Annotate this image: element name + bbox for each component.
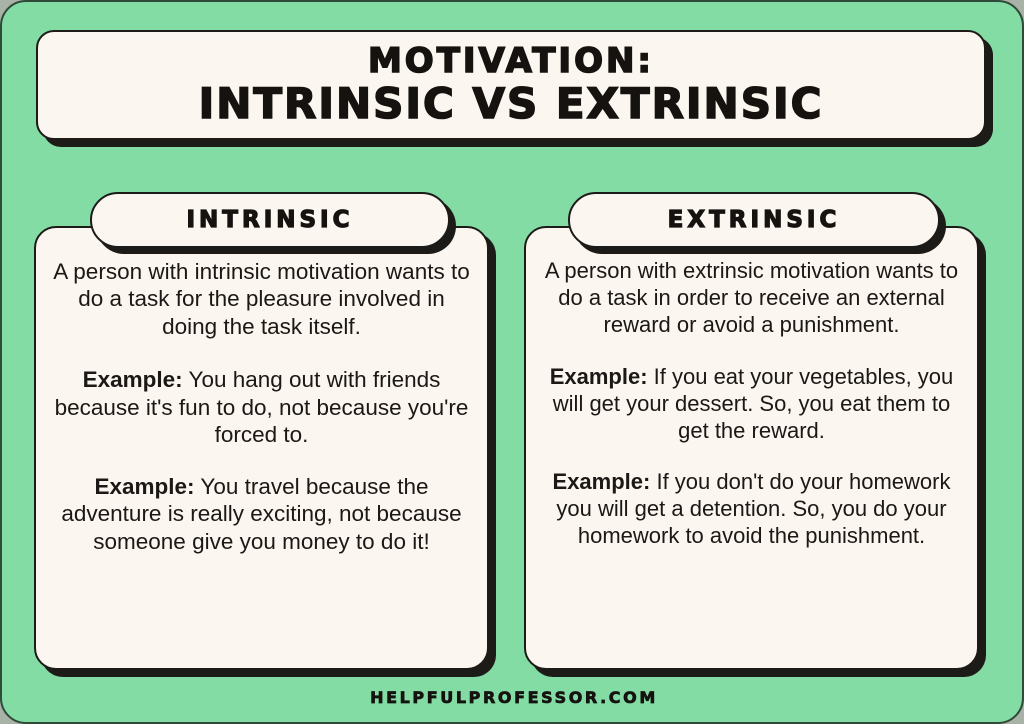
tab-intrinsic[interactable]: INTRINSIC xyxy=(90,192,450,248)
tab-extrinsic[interactable]: EXTRINSIC xyxy=(568,192,940,248)
intrinsic-example-1: Example: You hang out with friends becau… xyxy=(52,366,471,448)
panel-extrinsic: A person with extrinsic motivation wants… xyxy=(524,226,979,670)
title-card: MOTIVATION: INTRINSIC VS EXTRINSIC xyxy=(36,30,986,140)
intrinsic-definition: A person with intrinsic motivation wants… xyxy=(52,258,471,340)
extrinsic-definition: A person with extrinsic motivation wants… xyxy=(542,258,961,338)
extrinsic-example-2: Example: If you don't do your homework y… xyxy=(542,469,961,549)
page-title-line-2: INTRINSIC VS EXTRINSIC xyxy=(199,83,824,126)
intrinsic-example-2-label: Example: xyxy=(95,474,195,499)
column-extrinsic: EXTRINSIC A person with extrinsic motiva… xyxy=(524,192,979,670)
tab-extrinsic-label: EXTRINSIC xyxy=(668,207,841,233)
comparison-columns: INTRINSIC A person with intrinsic motiva… xyxy=(2,192,1024,672)
tab-intrinsic-label: INTRINSIC xyxy=(186,207,353,233)
page-title-line-1: MOTIVATION: xyxy=(368,44,654,79)
panel-intrinsic: A person with intrinsic motivation wants… xyxy=(34,226,489,670)
footer: HELPFULPROFESSOR.COM xyxy=(2,688,1024,708)
footer-attribution: HELPFULPROFESSOR.COM xyxy=(370,688,658,707)
infographic-poster: MOTIVATION: INTRINSIC VS EXTRINSIC INTRI… xyxy=(0,0,1024,724)
extrinsic-example-1: Example: If you eat your vegetables, you… xyxy=(542,364,961,444)
extrinsic-example-1-label: Example: xyxy=(550,364,648,389)
extrinsic-example-2-label: Example: xyxy=(553,469,651,494)
intrinsic-example-1-label: Example: xyxy=(83,367,183,392)
intrinsic-example-2: Example: You travel because the adventur… xyxy=(52,473,471,555)
column-intrinsic: INTRINSIC A person with intrinsic motiva… xyxy=(34,192,489,670)
